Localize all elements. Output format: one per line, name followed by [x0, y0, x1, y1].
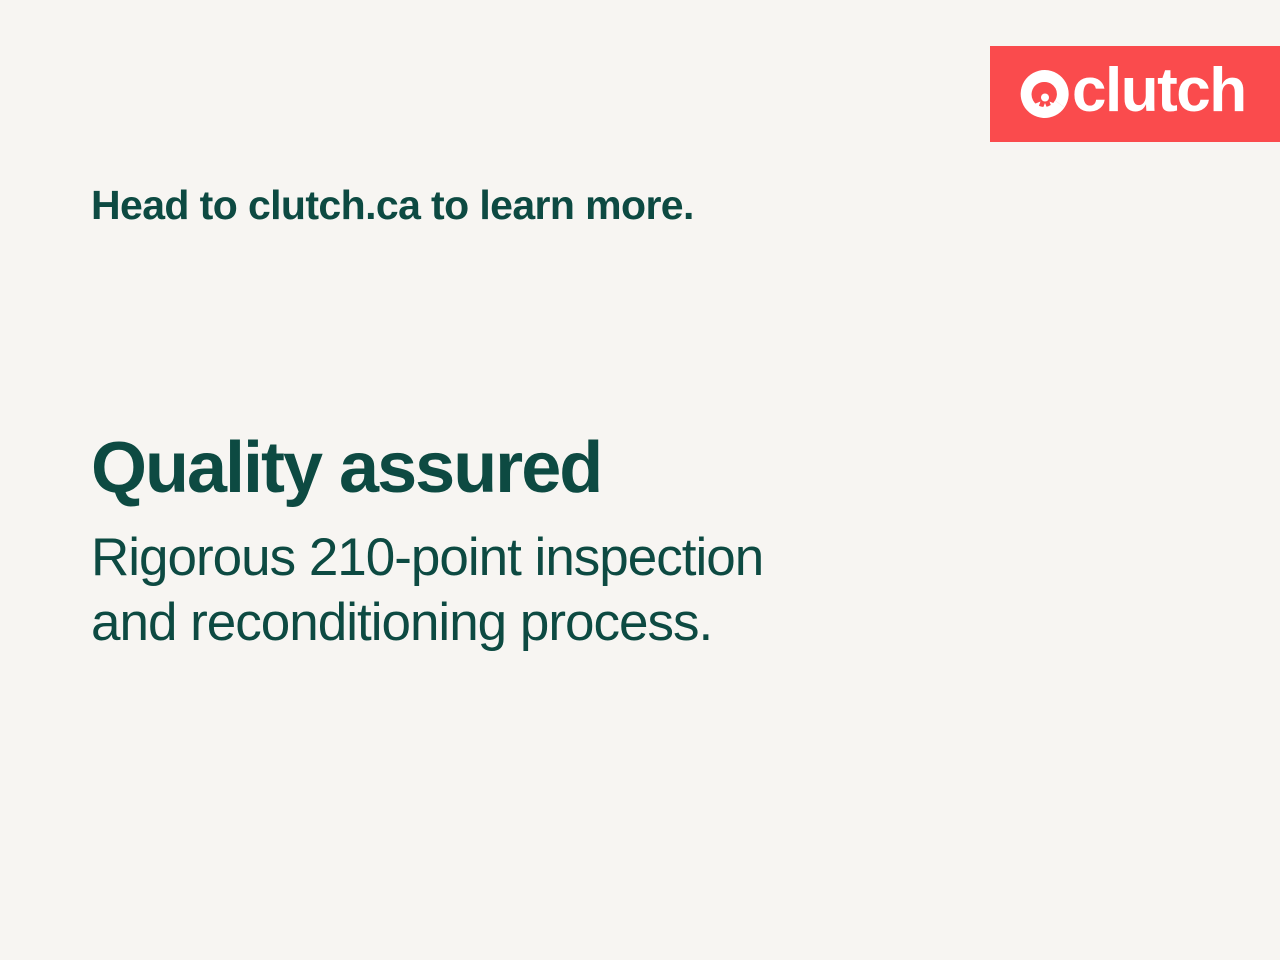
subheadline: Rigorous 210-point inspection and recond…	[91, 526, 1091, 655]
clutch-wordmark: clutch	[1020, 65, 1246, 123]
clutch-c-wheel-icon	[1020, 69, 1070, 119]
subheadline-line-2: and reconditioning process.	[91, 591, 1091, 656]
lead-line: Head to clutch.ca to learn more.	[91, 181, 694, 230]
subheadline-line-1: Rigorous 210-point inspection	[91, 526, 1091, 591]
promo-slide: clutch Head to clutch.ca to learn more. …	[0, 0, 1280, 960]
brand-wordmark-text: clutch	[1072, 60, 1246, 122]
brand-banner: clutch	[990, 46, 1280, 142]
headline-block: Quality assured Rigorous 210-point inspe…	[91, 432, 1091, 655]
page-title: Quality assured	[91, 432, 1091, 504]
